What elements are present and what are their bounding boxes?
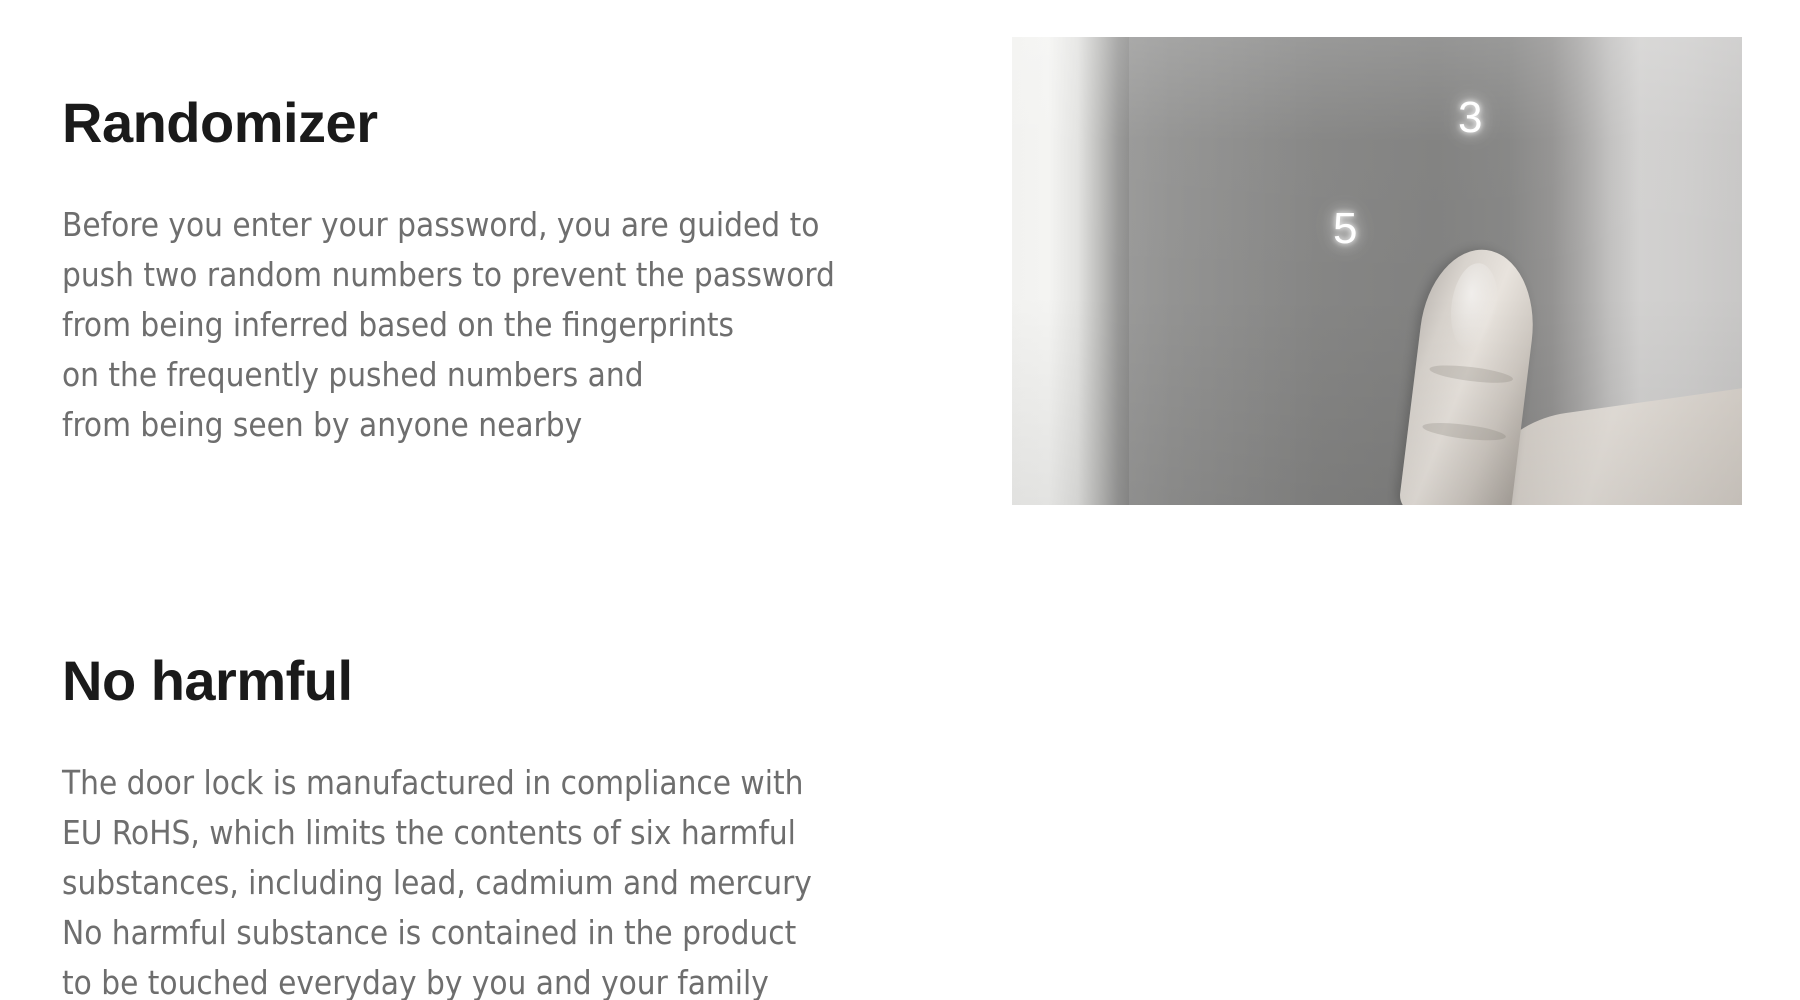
section-no-harmful: No harmful The door lock is manufactured… (0, 520, 1800, 1000)
noharmful-line-2: EU RoHS, which limits the contents of si… (62, 808, 812, 858)
noharmful-line-3: substances, including lead, cadmium and … (62, 858, 812, 908)
keypad-vignette (1012, 37, 1742, 505)
section-randomizer: Randomizer Before you enter your passwor… (0, 0, 1800, 520)
randomizer-line-5: from being seen by anyone nearby (62, 400, 835, 450)
feature-page: Randomizer Before you enter your passwor… (0, 0, 1800, 1000)
noharmful-description: The door lock is manufactured in complia… (62, 758, 812, 1000)
page-title-no-harmful: No harmful (62, 650, 353, 712)
noharmful-line-4: No harmful substance is contained in the… (62, 908, 812, 958)
page-title-randomizer: Randomizer (62, 92, 378, 154)
randomizer-description: Before you enter your password, you are … (62, 200, 835, 450)
noharmful-line-5: to be touched everyday by you and your f… (62, 958, 812, 1000)
noharmful-line-1: The door lock is manufactured in complia… (62, 758, 812, 808)
randomizer-title-wrap: Randomizer (62, 92, 378, 154)
randomizer-line-4: on the frequently pushed numbers and (62, 350, 835, 400)
keypad-photo: 3 5 (1012, 37, 1742, 505)
keypad-panel: 3 5 (1012, 37, 1742, 505)
randomizer-line-3: from being inferred based on the fingerp… (62, 300, 835, 350)
noharmful-title-wrap: No harmful (62, 650, 353, 712)
randomizer-line-1: Before you enter your password, you are … (62, 200, 835, 250)
randomizer-line-2: push two random numbers to prevent the p… (62, 250, 835, 300)
